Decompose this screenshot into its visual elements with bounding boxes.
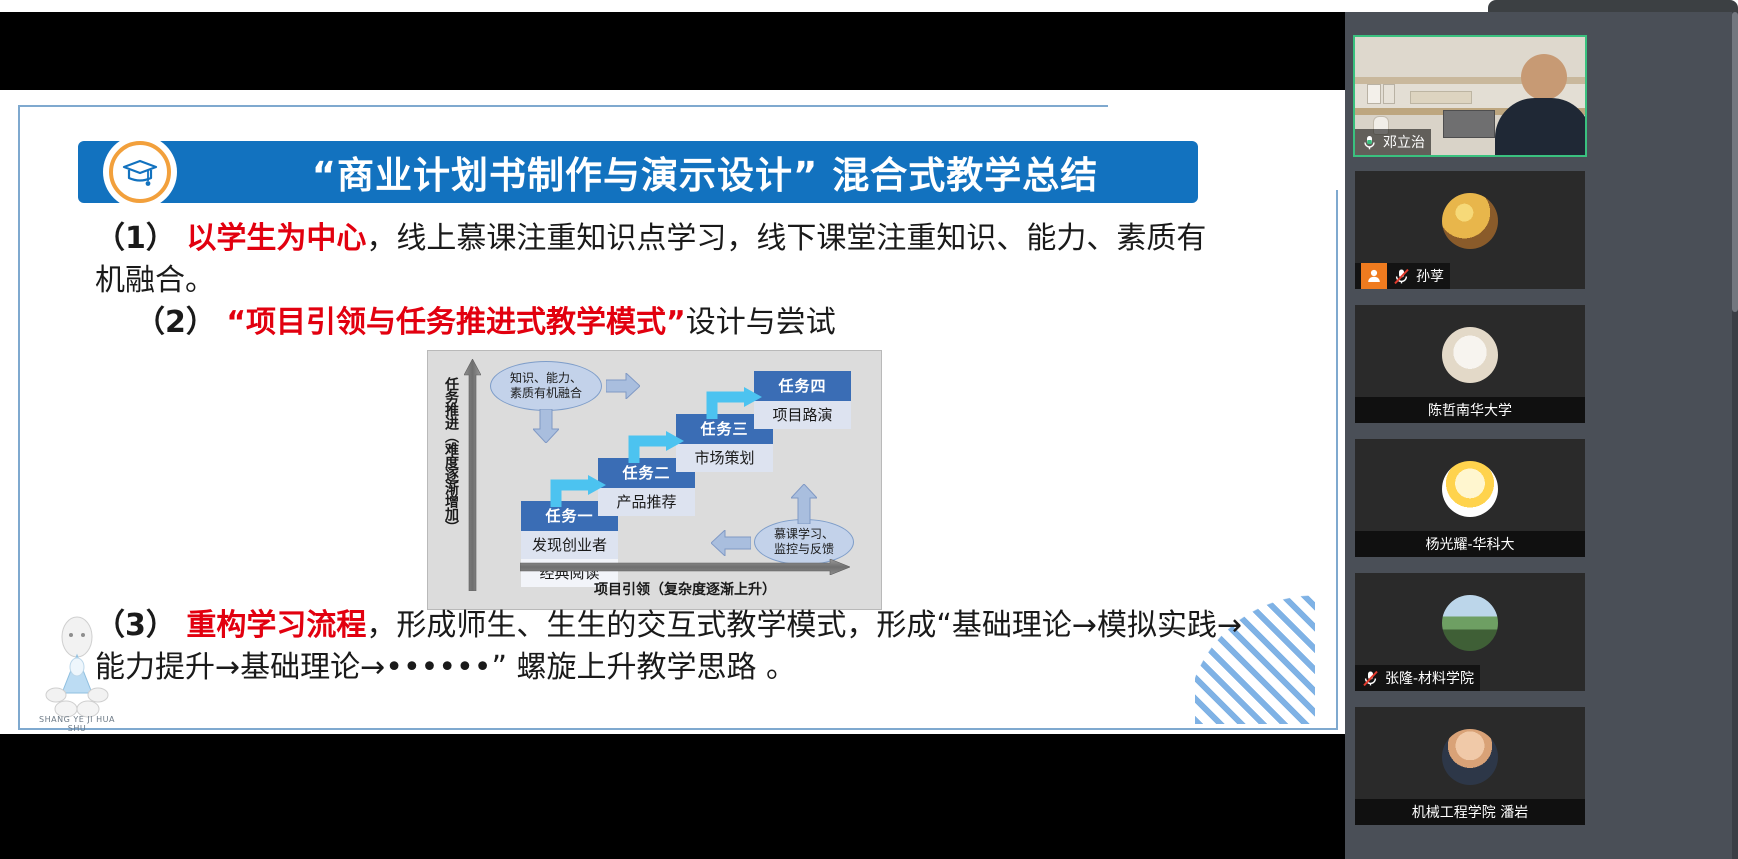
window-chrome-left (0, 0, 1345, 12)
mascot-icon (32, 615, 122, 720)
callout-right-line1: 慕课学习、 (774, 527, 834, 542)
step-4-body: 项目路演 (754, 401, 851, 429)
callout-right-line2: 监控与反馈 (774, 542, 834, 557)
callout-top-line2: 素质有机融合 (510, 386, 582, 401)
point-1-number: （1） (95, 221, 176, 256)
step-task-4: 任务四 项目路演 (754, 371, 851, 429)
graduation-cap-badge (103, 135, 177, 209)
step-4-head: 任务四 (754, 371, 851, 401)
participant-name-2: 孙莩 (1416, 266, 1444, 286)
participant-namebar-5: 张隆-材料学院 (1355, 665, 1480, 691)
participant-namebar-4: 杨光耀-华科大 (1355, 531, 1585, 557)
participant-name-5: 张隆-材料学院 (1385, 668, 1474, 688)
callout-top-down-arrow-icon (533, 409, 559, 447)
participant-name-3: 陈哲南华大学 (1428, 400, 1512, 420)
callout-top: 知识、能力、 素质有机融合 (490, 361, 602, 411)
mascot-caption: SHANG YE JI HUA SHU (34, 715, 120, 733)
step-1-body: 发现创业者 (521, 531, 618, 559)
diagram-y-axis-label: 任务推进（难度逐渐增加） (440, 377, 462, 602)
participant-tile-4[interactable]: 杨光耀-华科大 (1355, 439, 1585, 557)
step-arrow-2-to-3-icon (628, 429, 684, 467)
avatar-4 (1442, 461, 1498, 517)
participant-name-4: 杨光耀-华科大 (1425, 534, 1514, 554)
microphone-muted-icon (1361, 669, 1380, 688)
horizontal-axis-arrow-icon (520, 559, 850, 575)
diagram-x-axis-label: 项目引领（复杂度逐渐上升） (520, 579, 850, 599)
avatar-5 (1442, 595, 1498, 651)
participant-rail: 邓立治 (1345, 12, 1738, 859)
callout-top-right-arrow-icon (606, 373, 640, 403)
step-arrow-1-to-2-icon (550, 473, 606, 511)
participant-name-6: 机械工程学院 潘岩 (1412, 802, 1528, 822)
letterbox-bottom (0, 734, 1345, 859)
participant-namebar-2: 孙莩 (1355, 263, 1450, 289)
app-root: “商业计划书制作与演示设计” 混合式教学总结 （1） 以学生为中心，线上慕课注重… (0, 0, 1738, 859)
participant-tile-1[interactable]: 邓立治 (1355, 37, 1585, 155)
presentation-slide: “商业计划书制作与演示设计” 混合式教学总结 （1） 以学生为中心，线上慕课注重… (0, 90, 1345, 734)
point-3-highlight: 重构学习流程 (186, 608, 366, 643)
participant-tile-5[interactable]: 张隆-材料学院 (1355, 573, 1585, 691)
microphone-muted-icon (1392, 267, 1411, 286)
letterbox-top (0, 12, 1345, 90)
slide-frame-top (18, 105, 1108, 107)
avatar-3 (1442, 327, 1498, 383)
participant-namebar-6: 机械工程学院 潘岩 (1355, 799, 1585, 825)
slide-point-2: （2） “项目引领与任务推进式教学模式”设计与尝试 (135, 302, 1235, 344)
participant-namebar-1: 邓立治 (1355, 129, 1431, 155)
teaching-model-diagram: 任务推进（难度逐渐增加） 知识、能力、 素质有机融合 (427, 350, 882, 610)
slide-frame-left (18, 105, 20, 730)
point-2-highlight: “项目引领与任务推进式教学模式” (226, 305, 685, 340)
page-title: “商业计划书制作与演示设计” 混合式教学总结 (215, 141, 1195, 203)
point-1-highlight: 以学生为中心 (186, 221, 366, 256)
browser-tab[interactable] (1488, 0, 1738, 12)
callout-right-up-arrow-icon (791, 484, 817, 528)
slide-point-1: （1） 以学生为中心，线上慕课注重知识点学习，线下课堂注重知识、能力、素质有机融… (95, 218, 1235, 302)
vertical-axis-arrow-icon (464, 359, 481, 591)
avatar-6 (1442, 729, 1498, 785)
participant-rail-scrollbar[interactable] (1732, 12, 1738, 859)
participant-namebar-3: 陈哲南华大学 (1355, 397, 1585, 423)
participant-tile-3[interactable]: 陈哲南华大学 (1355, 305, 1585, 423)
slide-point-3: （3） 重构学习流程，形成师生、生生的交互式教学模式，形成“基础理论→模拟实践→… (95, 605, 1255, 689)
step-arrow-3-to-4-icon (706, 385, 762, 423)
participant-tile-6[interactable]: 机械工程学院 潘岩 (1355, 707, 1585, 825)
callout-right-left-arrow-icon (711, 530, 751, 560)
participant-tile-2[interactable]: 孙莩 (1355, 171, 1585, 289)
step-2-body: 产品推荐 (598, 488, 695, 516)
person-badge-icon (1361, 263, 1387, 289)
step-3-body: 市场策划 (676, 444, 773, 472)
slide-frame-right (1336, 190, 1338, 730)
microphone-on-icon (1361, 134, 1378, 151)
point-2-number: （2） (135, 305, 216, 340)
slide-frame-bottom (18, 728, 1338, 730)
scrollbar-thumb[interactable] (1732, 12, 1738, 312)
callout-top-line1: 知识、能力、 (510, 371, 582, 386)
shared-screen-stage: “商业计划书制作与演示设计” 混合式教学总结 （1） 以学生为中心，线上慕课注重… (0, 12, 1345, 859)
participant-name-1: 邓立治 (1383, 132, 1425, 152)
stage-bottom-cut (0, 845, 1345, 859)
graduation-cap-icon (109, 141, 171, 203)
avatar-2 (1442, 193, 1498, 249)
point-2-text: 设计与尝试 (686, 305, 836, 340)
